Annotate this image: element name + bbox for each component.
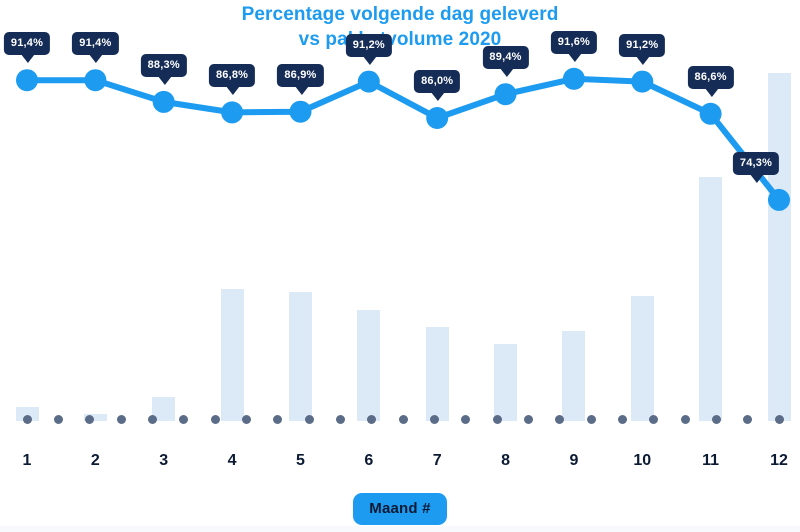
axis-dot (242, 415, 251, 424)
x-tick-1: 1 (23, 452, 32, 470)
axis-dot (681, 415, 690, 424)
axis-dot (54, 415, 63, 424)
axis-dot (148, 415, 157, 424)
axis-dot (524, 415, 533, 424)
axis-dot (399, 415, 408, 424)
axis-dot (179, 415, 188, 424)
axis-dot (305, 415, 314, 424)
x-axis-title-pill: Maand # (353, 493, 446, 525)
x-tick-7: 7 (433, 452, 442, 470)
axis-dot (587, 415, 596, 424)
x-tick-4: 4 (228, 452, 237, 470)
value-badge-month-3: 88,3% (141, 54, 187, 77)
chart-container: Percentage volgende dag geleverd vs pakk… (0, 0, 800, 532)
axis-dot (461, 415, 470, 424)
axis-dot (493, 415, 502, 424)
axis-dot (23, 415, 32, 424)
value-badge-month-1: 91,4% (4, 32, 50, 55)
value-badge-month-12: 74,3% (733, 152, 779, 175)
x-tick-8: 8 (501, 452, 510, 470)
axis-dot (85, 415, 94, 424)
value-badge-month-11: 86,6% (688, 66, 734, 89)
value-badge-month-10: 91,2% (619, 34, 665, 57)
x-tick-2: 2 (91, 452, 100, 470)
x-axis-tick-labels: 123456789101112 (0, 452, 800, 482)
value-badge-month-2: 91,4% (72, 32, 118, 55)
axis-dot (712, 415, 721, 424)
axis-dot (211, 415, 220, 424)
x-tick-9: 9 (569, 452, 578, 470)
axis-dot (367, 415, 376, 424)
value-badge-month-8: 89,4% (482, 46, 528, 69)
axis-dot (743, 415, 752, 424)
axis-dot (336, 415, 345, 424)
x-tick-11: 11 (702, 452, 719, 470)
axis-dot (117, 415, 126, 424)
axis-dot (618, 415, 627, 424)
value-badge-month-5: 86,9% (277, 64, 323, 87)
footer-strip (0, 526, 800, 532)
x-tick-10: 10 (633, 452, 651, 470)
value-badge-month-4: 86,8% (209, 64, 255, 87)
x-tick-6: 6 (364, 452, 373, 470)
axis-dot (273, 415, 282, 424)
axis-dot (430, 415, 439, 424)
x-tick-5: 5 (296, 452, 305, 470)
axis-dot (649, 415, 658, 424)
plot-area: 91,4%91,4%88,3%86,8%86,9%91,2%86,0%89,4%… (0, 0, 800, 440)
x-axis-title-wrap: Maand # (0, 493, 800, 525)
axis-dot-row (0, 0, 800, 440)
axis-dot (555, 415, 564, 424)
x-tick-3: 3 (159, 452, 168, 470)
x-tick-12: 12 (770, 452, 788, 470)
value-badge-month-7: 86,0% (414, 70, 460, 93)
value-badge-month-9: 91,6% (551, 31, 597, 54)
axis-dot (775, 415, 784, 424)
value-badge-month-6: 91,2% (346, 34, 392, 57)
